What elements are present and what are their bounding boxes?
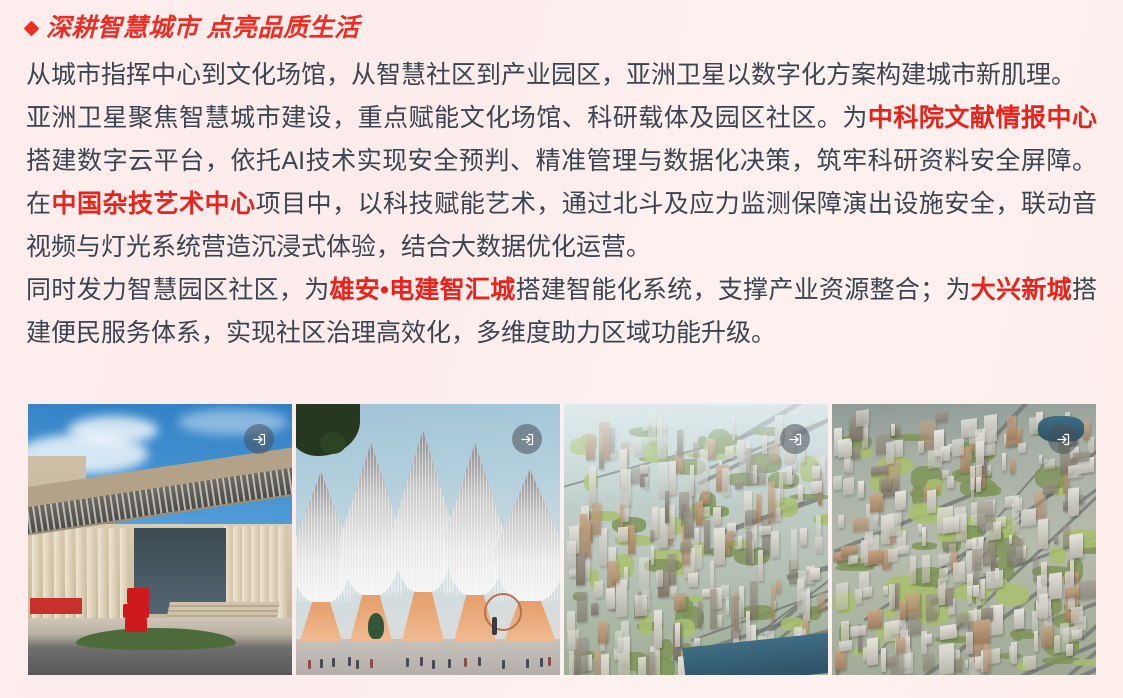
expand-button-2[interactable] <box>512 424 542 454</box>
expand-button-4[interactable] <box>1048 424 1078 454</box>
arrow-into-box-icon <box>788 432 803 447</box>
expand-button-1[interactable] <box>244 424 274 454</box>
highlight-cas-library: 中科院文献情报中心 <box>868 104 1097 132</box>
text-run: 亚洲卫星聚焦智慧城市建设，重点赋能文化场馆、科研载体及园区社区。为 <box>26 104 868 132</box>
image-1-banner <box>30 598 82 614</box>
image-2-tree <box>368 613 384 639</box>
gallery-image-2[interactable] <box>296 404 560 675</box>
image-2-sculpture-ring <box>484 593 522 631</box>
paragraph-focus: 亚洲卫星聚焦智慧城市建设，重点赋能文化场馆、科研载体及园区社区。为中科院文献情报… <box>26 97 1097 269</box>
expand-button-3[interactable] <box>780 424 810 454</box>
cloud <box>68 416 158 444</box>
gallery-image-1[interactable] <box>28 404 292 675</box>
text-run: 同时发力智慧园区社区，为 <box>26 276 329 304</box>
image-2-ground <box>296 639 560 675</box>
highlight-acrobatic-centre: 中国杂技艺术中心 <box>52 190 256 218</box>
page-title: 深耕智慧城市 点亮品质生活 <box>46 16 359 41</box>
arrow-into-box-icon <box>1056 432 1071 447</box>
highlight-daxing: 大兴新城 <box>971 276 1072 304</box>
section-heading: 深耕智慧城市 点亮品质生活 <box>26 0 1097 48</box>
text-run: 搭建智能化系统，支撑产业资源整合；为 <box>516 276 971 304</box>
image-1-red-sculpture <box>123 588 153 632</box>
highlight-xiongan: 雄安•电建智汇城 <box>329 276 515 304</box>
gallery-image-3[interactable] <box>564 404 828 675</box>
arrow-into-box-icon <box>520 432 535 447</box>
diamond-icon <box>24 21 40 37</box>
article-body: 从城市指挥中心到文化场馆，从智慧社区到产业园区，亚洲卫星以数字化方案构建城市新肌… <box>26 54 1097 355</box>
paragraph-parks: 同时发力智慧园区社区，为雄安•电建智汇城搭建智能化系统，支撑产业资源整合；为大兴… <box>26 269 1097 355</box>
gallery-image-4[interactable] <box>832 404 1096 675</box>
image-2-sculpture-figure <box>492 617 497 635</box>
arrow-into-box-icon <box>252 432 267 447</box>
text-run: 从城市指挥中心到文化场馆，从智慧社区到产业园区，亚洲卫星以数字化方案构建城市新肌… <box>26 61 1076 89</box>
image-gallery <box>28 404 1096 675</box>
article-section: 深耕智慧城市 点亮品质生活 从城市指挥中心到文化场馆，从智慧社区到产业园区，亚洲… <box>0 0 1123 698</box>
paragraph-intro: 从城市指挥中心到文化场馆，从智慧社区到产业园区，亚洲卫星以数字化方案构建城市新肌… <box>26 54 1097 97</box>
